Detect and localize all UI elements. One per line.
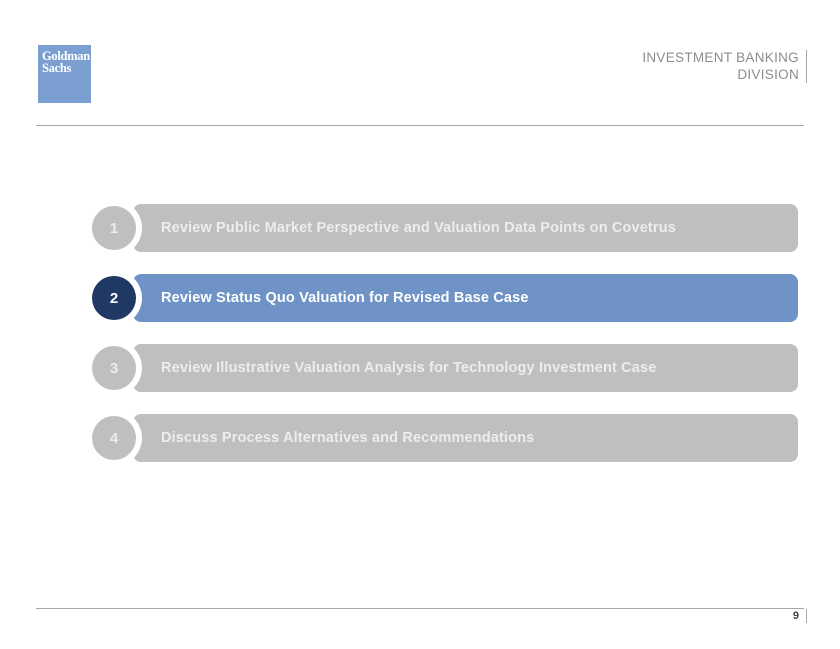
agenda-item-3-bar[interactable]: Review Illustrative Valuation Analysis f… [133,344,798,392]
agenda-item-3[interactable]: Review Illustrative Valuation Analysis f… [0,344,840,392]
division-line-2: DIVISION [642,67,799,84]
agenda-item-4-badge-ring: 4 [86,410,142,466]
agenda-item-4-label: Discuss Process Alternatives and Recomme… [161,430,534,446]
division-header: INVESTMENT BANKING DIVISION [642,50,807,83]
goldman-sachs-logo-text: GoldmanSachs [42,51,90,74]
logo-line-2: Sachs [42,61,71,75]
agenda-item-2[interactable]: Review Status Quo Valuation for Revised … [0,274,840,322]
agenda-item-3-label: Review Illustrative Valuation Analysis f… [161,360,656,376]
division-line-1: INVESTMENT BANKING [642,50,799,67]
slide-canvas: GoldmanSachs INVESTMENT BANKING DIVISION… [0,0,840,649]
agenda-list: Review Public Market Perspective and Val… [0,204,840,484]
agenda-item-2-bar[interactable]: Review Status Quo Valuation for Revised … [133,274,798,322]
agenda-item-4-bar[interactable]: Discuss Process Alternatives and Recomme… [133,414,798,462]
agenda-item-2-number-badge: 2 [92,276,136,320]
page-number: 9 [793,609,807,623]
agenda-item-1-label: Review Public Market Perspective and Val… [161,220,676,236]
agenda-item-1-number-badge: 1 [92,206,136,250]
agenda-item-1-bar[interactable]: Review Public Market Perspective and Val… [133,204,798,252]
agenda-item-4[interactable]: Discuss Process Alternatives and Recomme… [0,414,840,462]
goldman-sachs-logo: GoldmanSachs [38,45,91,103]
agenda-item-2-label: Review Status Quo Valuation for Revised … [161,290,529,306]
agenda-item-3-badge-ring: 3 [86,340,142,396]
agenda-item-4-number-badge: 4 [92,416,136,460]
agenda-item-1[interactable]: Review Public Market Perspective and Val… [0,204,840,252]
footer-divider [36,608,804,609]
agenda-item-1-badge-ring: 1 [86,200,142,256]
agenda-item-2-badge-ring: 2 [86,270,142,326]
header-divider [36,125,804,126]
agenda-item-3-number-badge: 3 [92,346,136,390]
